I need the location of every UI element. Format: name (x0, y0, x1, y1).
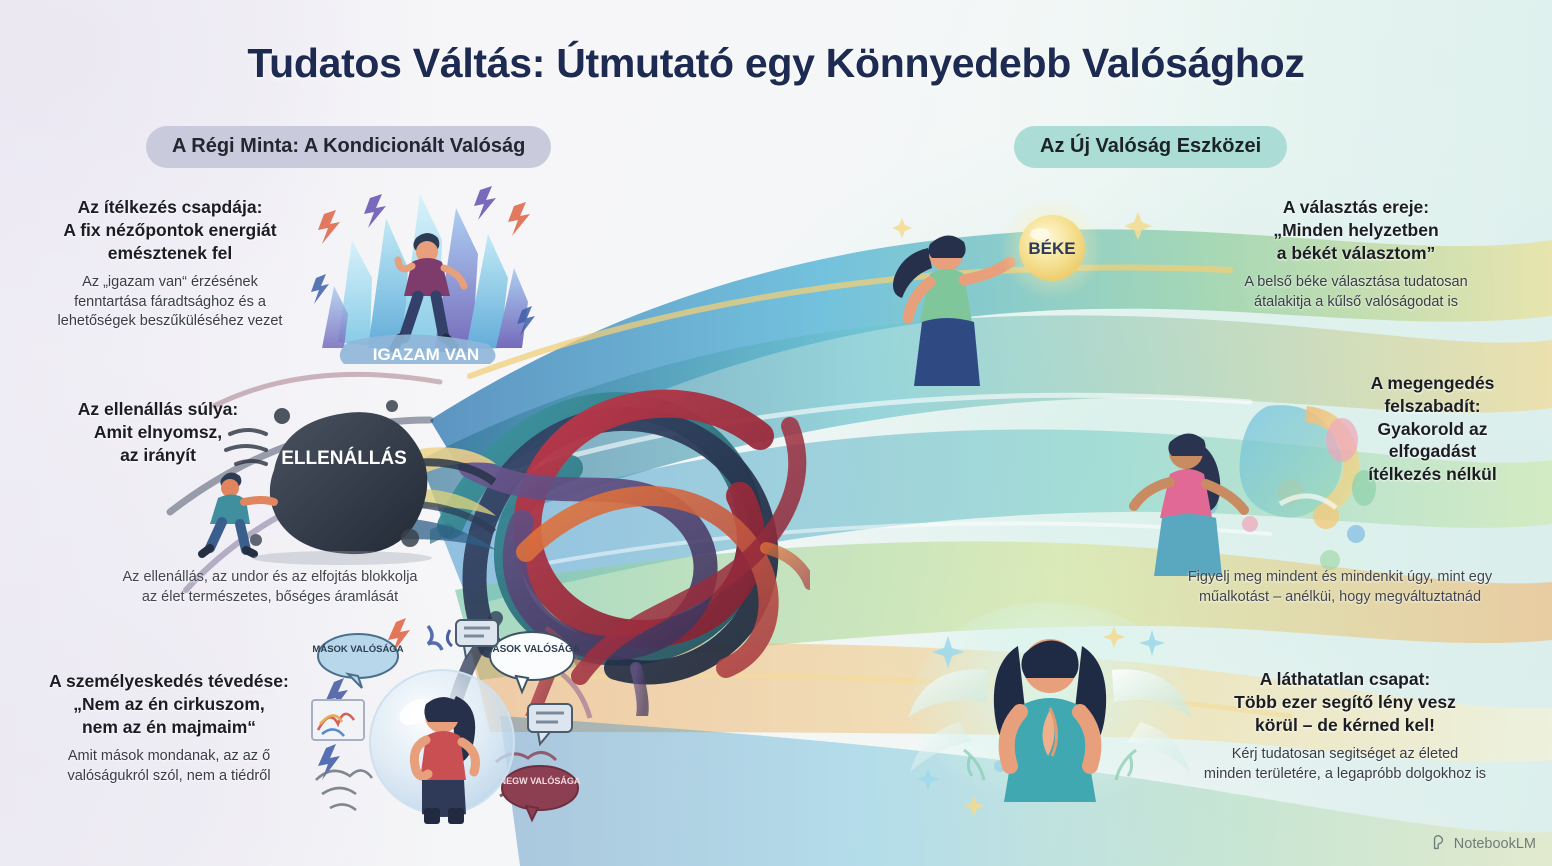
crystal-art-label: IGAZAM VAN (373, 345, 479, 364)
bubble-others-reality-illustration: MÁSOK VALÓSÁGA MÁSOK VALÓSÁGA NEGW VALÓS… (300, 612, 600, 838)
right-block-3-body: Kérj tudatosan segitséget az életedminde… (1160, 745, 1530, 784)
left-block-1-heading: Az ítélkezés csapdája:A fix nézőpontok e… (34, 196, 306, 264)
crystal-trap-illustration: IGAZAM VAN (308, 182, 544, 374)
left-block-2: Az ellenállás súlya:Amit elnyomsz,az irá… (34, 398, 282, 466)
right-block-3: A láthatatlan csapat:Több ezer segítő lé… (1160, 668, 1530, 784)
left-block-2-heading: Az ellenállás súlya:Amit elnyomsz,az irá… (34, 398, 282, 466)
section-header-new-tools: Az Új Valóság Eszközei (1014, 126, 1287, 168)
right-block-2-body: Figyelj meg mindent és mindenkit úgy, mi… (1148, 568, 1532, 607)
right-block-2-heading: A megengedésfelszabadít:Gyakorold azelfo… (1330, 372, 1535, 486)
left-block-3: A személyeskedés tévedése:„Nem az én cir… (24, 670, 314, 786)
infographic-canvas: IGAZAM VAN (0, 0, 1552, 866)
peace-orb-illustration: BÉKE (880, 196, 1180, 416)
left-block-2-body: Az ellenállás, az undor és az elfojtás b… (86, 568, 454, 607)
bubble-label-3: NEGW VALÓSÁGA (500, 775, 581, 786)
right-block-2-caption: Figyelj meg mindent és mindenkit úgy, mi… (1148, 568, 1532, 607)
left-block-2-caption: Az ellenállás, az undor és az elfojtás b… (86, 568, 454, 607)
bubble-label-1: MÁSOK VALÓSÁGA (312, 643, 403, 655)
bubble-label-2: MÁSOK VALÓSÁGA (484, 642, 580, 655)
right-block-1: A választás ereje:„Minden helyzetbena bé… (1196, 196, 1516, 312)
invisible-team-illustration (900, 600, 1200, 850)
right-block-1-body: A belső béke választása tudatosanátalaki… (1196, 273, 1516, 312)
left-block-1-body: Az „igazam van“ érzésénekfenntartása fár… (34, 273, 306, 331)
notebooklm-watermark: NotebookLM (1431, 835, 1536, 852)
peace-orb-label: BÉKE (1028, 239, 1075, 258)
left-block-3-body: Amit mások mondanak, az az ővalóságukról… (24, 747, 314, 786)
right-block-2: A megengedésfelszabadít:Gyakorold azelfo… (1330, 372, 1535, 486)
left-block-1: Az ítélkezés csapdája:A fix nézőpontok e… (34, 196, 306, 332)
right-block-3-heading: A láthatatlan csapat:Több ezer segítő lé… (1160, 668, 1530, 736)
page-title: Tudatos Váltás: Útmutató egy Könnyedebb … (0, 40, 1552, 87)
left-block-3-heading: A személyeskedés tévedése:„Nem az én cir… (24, 670, 314, 738)
right-block-1-heading: A választás ereje:„Minden helyzetbena bé… (1196, 196, 1516, 264)
notebooklm-label: NotebookLM (1454, 836, 1536, 852)
section-header-old-pattern: A Régi Minta: A Kondicionált Valóság (146, 126, 551, 168)
boulder-art-label: ELLENÁLLÁS (281, 447, 407, 469)
notebooklm-icon (1431, 835, 1448, 852)
